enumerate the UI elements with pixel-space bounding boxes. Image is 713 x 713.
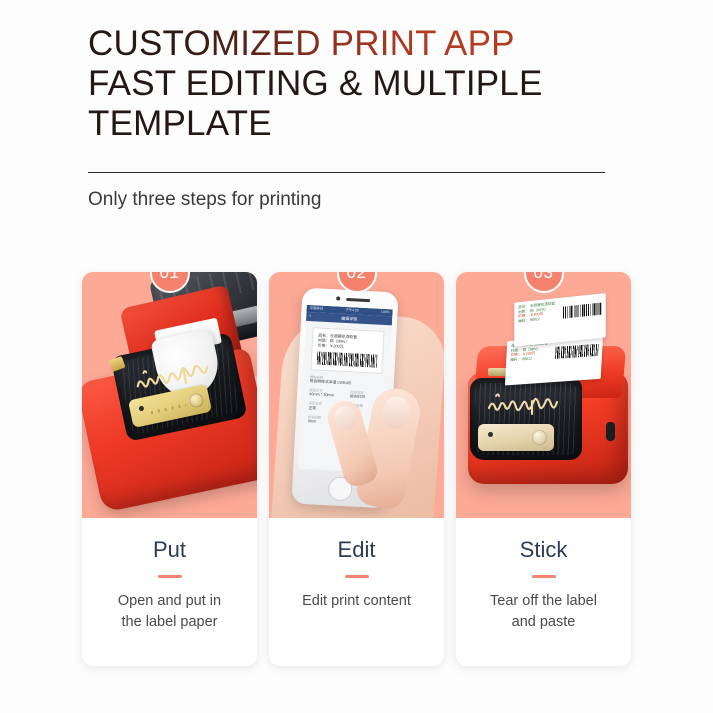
phone-front-camera-icon [336,296,340,300]
headline-line-3: TEMPLATE [88,104,628,144]
headline-line-2: FAST EDITING & MULTIPLE [88,64,628,104]
step-text-put: Put Open and put in the label paper [82,518,257,666]
steps-container: 01 Put Open and put in the label paper [82,272,631,666]
finger-nail [332,404,358,433]
form-row-size-direction[interactable]: 标签尺寸 40mm * 30mm 打印方向 纵向打印 [309,388,381,401]
step-dash-divider [345,575,369,578]
step-card-edit[interactable]: 中国移动 下午4:00 100% ‹ 编辑详情 品名：长颈鹿花洒软管 材质：铜（… [269,272,444,666]
step-card-put[interactable]: 01 Put Open and put in the label paper [82,272,257,666]
header-subtitle: Only three steps for printing [88,188,321,212]
step-title: Put [82,537,257,563]
step-desc-line-1: Open and put in [82,591,257,612]
form-value: 40mm * 30mm [309,393,340,400]
step-photo-edit: 中国移动 下午4:00 100% ‹ 编辑详情 品名：长颈鹿花洒软管 材质：铜（… [269,272,444,518]
printer-indicator-led [138,406,144,412]
thumb-nail [380,394,412,430]
printer-printing-illustration: 品名： 长颈鹿花洒软管 材质： 铜（99%） 价格： ￥200元 编码： 888… [456,272,631,518]
step-title: Edit [269,537,444,563]
promo-page: CUSTOMIZED PRINT APP FAST EDITING & MULT… [0,0,713,713]
app-nav-title: 编辑详情 [341,315,357,322]
brand-script-logo [486,390,570,418]
printed-label-text: 品名： 长颈鹿花洒软管 材质： 铜（99%） 价格： ￥200元 编码： 888… [518,301,560,324]
step-title: Stick [456,537,631,563]
step-desc-line-1: Edit print content [269,591,444,612]
header-block: CUSTOMIZED PRINT APP FAST EDITING & MULT… [88,24,628,144]
label-preview-card[interactable]: 品名：长颈鹿花洒软管 材质：铜（99%） 价格：￥200元 [310,327,384,373]
step-dash-divider [158,575,182,578]
barcode-icon [563,303,602,319]
step-photo-stick: 品名： 长颈鹿花洒软管 材质： 铜（99%） 价格： ￥200元 编码： 888… [456,272,631,518]
header-divider [88,172,605,173]
barcode-icon [555,344,599,359]
step-dash-divider [532,575,556,578]
step-desc-line-2: and paste [456,612,631,633]
printer-power-button[interactable] [532,430,547,445]
printer-indicator-led [488,432,493,437]
barcode-icon [317,351,378,367]
step-photo-put: 01 [82,272,257,518]
step-card-stick[interactable]: 品名： 长颈鹿花洒软管 材质： 铜（99%） 价格： ￥200元 编码： 888… [456,272,631,666]
printer-side-button[interactable] [606,422,615,441]
printer-nameplate [478,424,554,451]
step-text-edit: Edit Edit print content [269,518,444,666]
step-text-stick: Stick Tear off the label and paste [456,518,631,666]
back-chevron-icon[interactable]: ‹ [309,314,311,319]
phone-earpiece [346,298,370,302]
printed-label-content: 品名： 长颈鹿花洒软管 材质： 铜（99%） 价格： ￥200元 编码： 888… [518,297,602,324]
form-row-template[interactable]: 模板名称 陈创特样式本道 LW0105 [310,375,382,388]
printer-power-button[interactable] [188,392,205,409]
headline-line-1: CUSTOMIZED PRINT APP [88,24,628,64]
form-cell-size[interactable]: 标签尺寸 40mm * 30mm [309,388,340,399]
step-desc-line-2: the label paper [82,612,257,633]
printer-open-illustration [82,272,257,518]
printer-plate-texture [151,404,187,414]
step-desc-line-1: Tear off the label [456,591,631,612]
hand-phone-illustration: 中国移动 下午4:00 100% ‹ 编辑详情 品名：长颈鹿花洒软管 材质：铜（… [269,272,444,518]
printed-label-barcode-wrap [563,297,602,320]
